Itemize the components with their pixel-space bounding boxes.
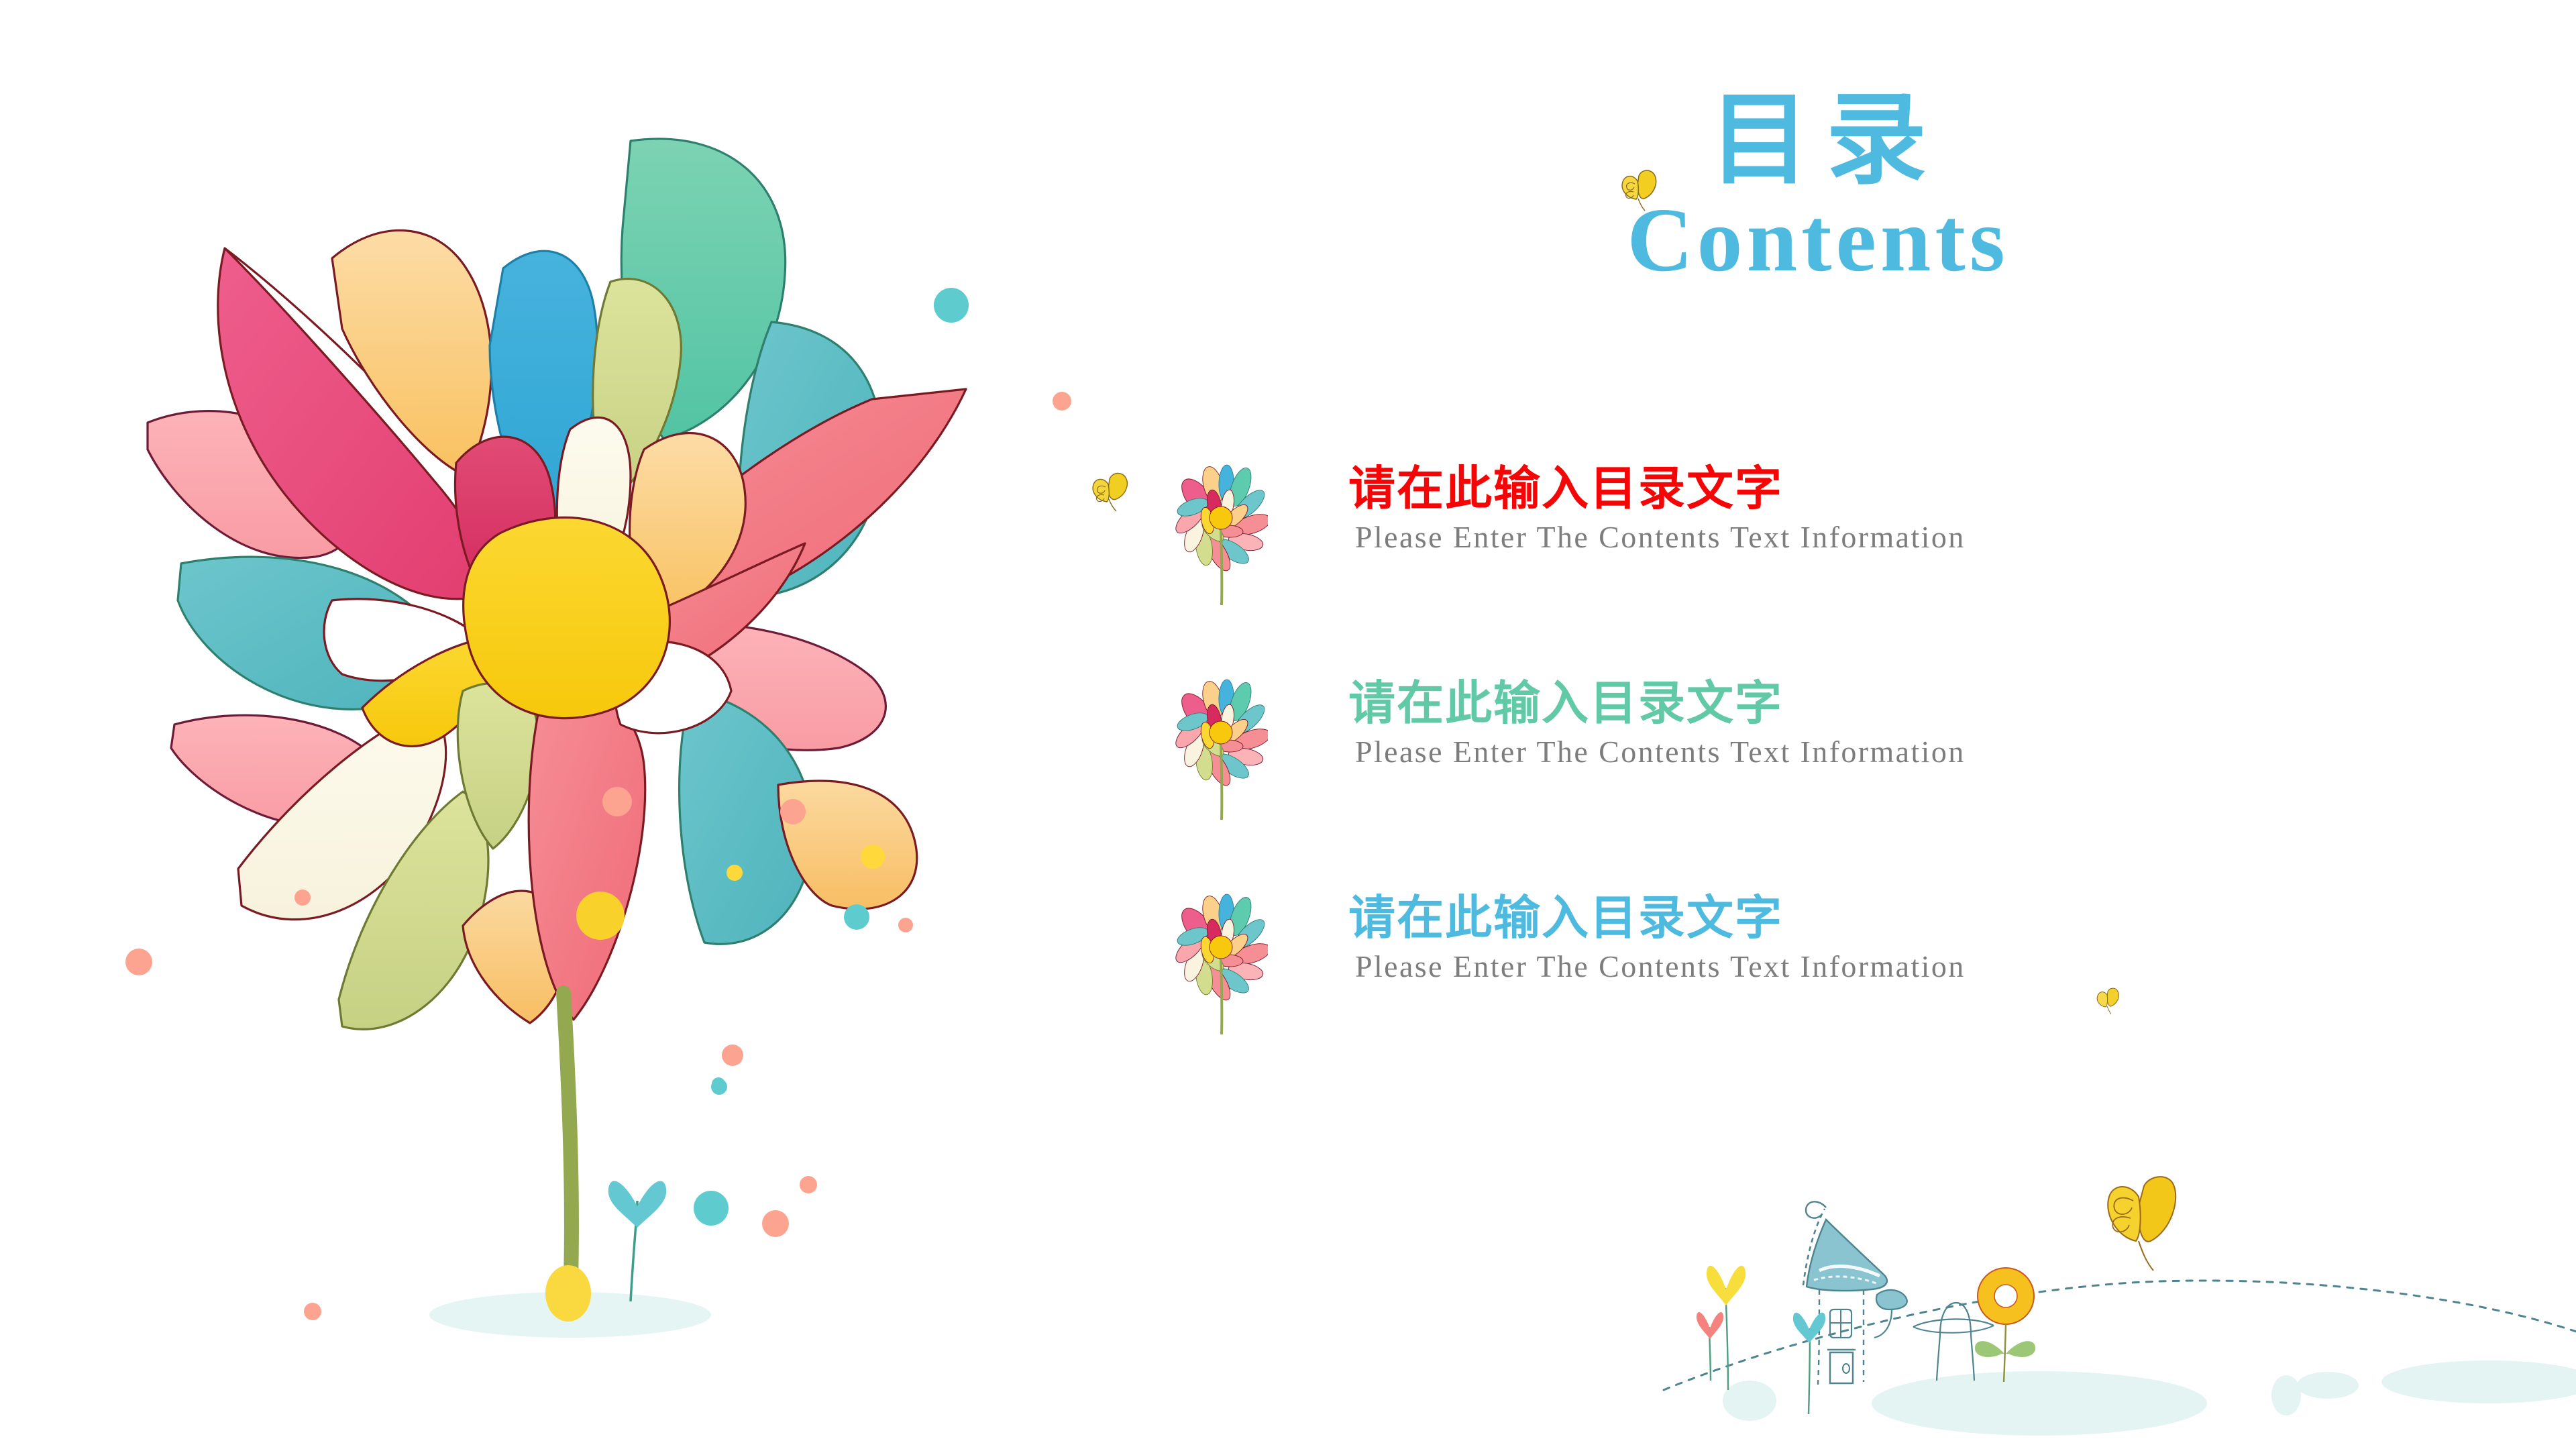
list-item-subtitle: Please Enter The Contents Text Informati… (1348, 733, 2254, 770)
confetti-dot (694, 1191, 729, 1226)
list-item[interactable]: 请在此输入目录文字 Please Enter The Contents Text… (1174, 678, 2314, 892)
confetti-dot (602, 787, 632, 816)
slide-canvas: 目录 Contents (0, 0, 2576, 1449)
list-item-heading: 请在此输入目录文字 (1348, 678, 2254, 729)
confetti-dot (294, 890, 311, 906)
confetti-dot (125, 949, 152, 975)
contents-list: 请在此输入目录文字 Please Enter The Contents Text… (1174, 463, 2314, 1107)
confetti-dot (1053, 392, 1071, 411)
flower-stem (563, 993, 572, 1301)
list-item-text: 请在此输入目录文字 Please Enter The Contents Text… (1348, 678, 2254, 770)
confetti-dot (722, 1044, 743, 1066)
large-flower-illustration (101, 101, 986, 1375)
page-title-english: Contents (1415, 195, 2220, 286)
list-item-heading: 请在此输入目录文字 (1348, 463, 2254, 515)
flower-icon (1174, 463, 1268, 607)
page-title-english-wrap: Contents (1415, 195, 2220, 288)
confetti-dot (800, 1176, 817, 1193)
confetti-dot (934, 288, 969, 323)
list-item-text: 请在此输入目录文字 Please Enter The Contents Text… (1348, 463, 2254, 555)
heart-flower-icon (1793, 1313, 1825, 1414)
bottom-right-scene (1650, 1114, 2576, 1449)
flower-icon (1174, 892, 1268, 1036)
confetti-dot (898, 918, 913, 932)
flower-center (464, 517, 670, 718)
confetti-dot (727, 865, 743, 881)
mushroom-house-icon (1803, 1201, 1907, 1385)
flower-icon (1174, 678, 1268, 822)
butterfly-icon (2108, 1177, 2176, 1271)
confetti-dot (762, 1210, 789, 1237)
list-item-heading: 请在此输入目录文字 (1348, 892, 2254, 944)
confetti-dot (844, 904, 869, 930)
list-item-text: 请在此输入目录文字 Please Enter The Contents Text… (1348, 892, 2254, 985)
confetti-dot (712, 1077, 725, 1091)
heart-flower-icon (1697, 1312, 1723, 1381)
confetti-dot (304, 1303, 321, 1320)
contents-panel: 目录 Contents (1201, 87, 2529, 1093)
petal-dot (576, 892, 625, 940)
confetti-dot (780, 799, 806, 824)
butterfly-icon (1617, 168, 1660, 215)
page-title-chinese: 目录 (1415, 87, 2220, 193)
title-block: 目录 Contents (1415, 87, 2220, 288)
butterfly-icon (1087, 470, 1131, 518)
ground-puddles (1723, 1360, 2576, 1436)
list-item-subtitle: Please Enter The Contents Text Informati… (1348, 948, 2254, 985)
stem-base-dot (545, 1265, 591, 1322)
sun-flower-icon (1975, 1268, 2035, 1382)
list-item[interactable]: 请在此输入目录文字 Please Enter The Contents Text… (1174, 892, 2314, 1107)
butterfly-icon (2093, 986, 2121, 1017)
list-item-subtitle: Please Enter The Contents Text Informati… (1348, 519, 2254, 555)
confetti-dot (861, 845, 885, 869)
list-item[interactable]: 请在此输入目录文字 Please Enter The Contents Text… (1174, 463, 2314, 678)
